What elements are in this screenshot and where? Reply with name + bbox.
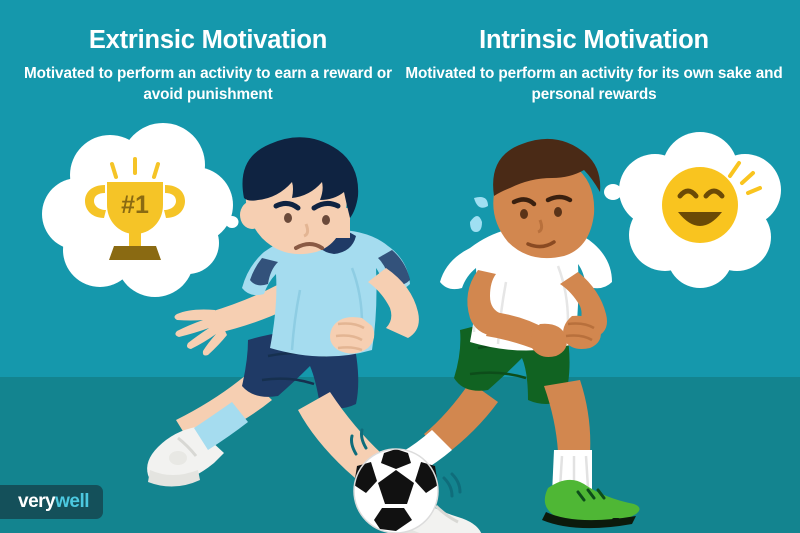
thought-bubble-right xyxy=(619,132,781,288)
left-boy-fist xyxy=(330,317,374,353)
column-extrinsic: Extrinsic Motivation Motivated to perfor… xyxy=(18,26,398,105)
sweat-drops-right xyxy=(470,197,488,232)
logo-text-very: very xyxy=(18,491,55,512)
trophy-rank-label: #1 xyxy=(121,191,149,219)
logo-text-well: well xyxy=(55,491,89,512)
extrinsic-title: Extrinsic Motivation xyxy=(18,26,398,54)
right-boy-head xyxy=(493,139,600,258)
infographic-canvas: #1 xyxy=(0,0,800,533)
intrinsic-title: Intrinsic Motivation xyxy=(404,26,784,54)
intrinsic-description: Motivated to perform an activity for its… xyxy=(404,63,784,105)
extrinsic-description: Motivated to perform an activity to earn… xyxy=(18,63,398,105)
column-intrinsic: Intrinsic Motivation Motivated to perfor… xyxy=(404,26,784,105)
verywell-logo: verywell xyxy=(0,485,103,519)
